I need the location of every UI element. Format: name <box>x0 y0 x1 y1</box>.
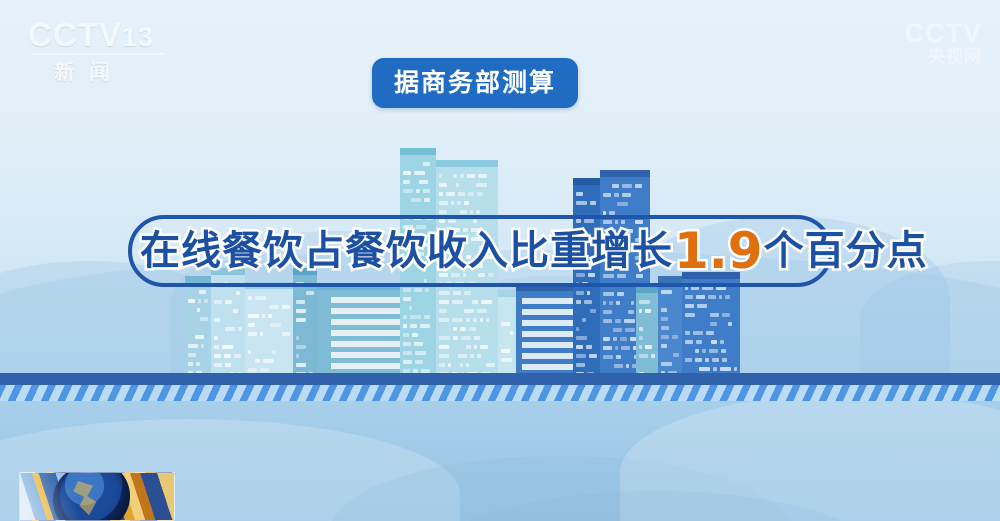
building-window <box>709 349 718 353</box>
building-window <box>415 351 426 355</box>
building-window <box>403 342 411 346</box>
building-window <box>576 192 583 196</box>
building-window <box>466 363 469 367</box>
building-window <box>464 291 471 295</box>
building-window <box>452 318 463 322</box>
building-window <box>695 349 699 353</box>
building-window <box>234 354 241 358</box>
building-window <box>453 327 457 331</box>
building-window <box>699 367 710 371</box>
building-window <box>260 332 263 336</box>
building-cap <box>400 148 436 155</box>
building-window <box>411 198 421 202</box>
building-window <box>470 354 474 358</box>
building-window <box>296 354 299 358</box>
building-window <box>225 363 231 367</box>
building-window <box>576 201 587 205</box>
building-window <box>196 362 200 366</box>
building-window <box>697 304 707 308</box>
building-window <box>468 192 474 196</box>
building-window <box>719 295 722 299</box>
thumbnail-light-streak <box>19 472 101 521</box>
source-banner-pill: 据商务部测算 <box>372 58 578 108</box>
building-window <box>628 310 634 314</box>
building-window <box>474 345 477 349</box>
building-window <box>639 354 648 358</box>
logo-divider <box>32 53 164 55</box>
building-window <box>708 295 716 299</box>
building-window <box>225 300 232 304</box>
building-window <box>722 313 730 317</box>
building-window <box>457 201 461 205</box>
building-window <box>204 299 208 303</box>
building-window <box>439 336 450 340</box>
building-window <box>270 323 281 327</box>
building-window <box>460 363 463 367</box>
building-window <box>464 201 469 205</box>
building <box>185 276 211 381</box>
building-window <box>200 317 208 321</box>
building-window <box>268 314 272 318</box>
building-window <box>296 318 306 322</box>
building-window <box>453 291 461 295</box>
building-window <box>631 301 634 305</box>
building-window <box>461 336 471 340</box>
building-window <box>617 202 628 206</box>
building-window <box>214 345 219 349</box>
building-window <box>423 189 430 193</box>
channel-logo-text: CCTV13 <box>28 18 218 51</box>
building-window <box>296 336 299 340</box>
building-window <box>272 350 276 354</box>
building-window <box>711 340 717 344</box>
building-window <box>255 359 260 363</box>
building-window <box>481 300 492 304</box>
building-window <box>214 336 218 340</box>
building-window <box>661 290 672 294</box>
building-window <box>603 319 612 323</box>
building-window <box>661 326 669 330</box>
building-window <box>248 332 257 336</box>
building-window <box>403 180 410 184</box>
building-window <box>576 345 583 349</box>
building-window <box>622 193 631 197</box>
building <box>682 272 740 381</box>
building-window <box>614 193 619 197</box>
building-window <box>452 300 463 304</box>
building-window <box>693 331 703 335</box>
building-window <box>224 354 231 358</box>
building-window <box>587 291 590 295</box>
news-ticker-globe-thumbnail <box>19 472 175 521</box>
headline-metric-value: 1.9 <box>674 226 763 276</box>
building-window <box>576 336 587 340</box>
building-window <box>582 318 586 322</box>
building-window <box>214 363 222 367</box>
building-window <box>603 337 610 341</box>
building-window <box>705 358 709 362</box>
building-window <box>615 319 621 323</box>
building-window <box>464 309 474 313</box>
building-window <box>403 297 411 301</box>
building-window <box>476 210 480 214</box>
headline-text: 在线餐饮占餐饮收入比重增长1.9个百分点 <box>140 215 928 287</box>
building-window <box>645 309 651 313</box>
channel-number: 13 <box>122 22 154 52</box>
building-window <box>188 299 195 303</box>
building-window <box>282 305 290 309</box>
building-window <box>710 322 717 326</box>
building-window <box>458 354 467 358</box>
building-window <box>620 337 627 341</box>
building-window <box>474 336 480 340</box>
building-window <box>469 327 476 331</box>
building-window <box>439 183 447 187</box>
building-window <box>576 363 585 367</box>
building-window <box>576 354 586 358</box>
building-window <box>617 292 624 296</box>
building-window <box>696 340 702 344</box>
building-window <box>685 304 694 308</box>
building-window <box>477 309 487 313</box>
building-window <box>439 345 449 349</box>
building-window <box>576 300 581 304</box>
building <box>245 282 293 381</box>
building-window <box>622 184 632 188</box>
building-window <box>306 291 314 295</box>
building-window <box>477 354 481 358</box>
building-window <box>639 327 643 331</box>
building-window <box>734 367 737 371</box>
headline-segment: 个百分点 <box>764 231 928 271</box>
building-window <box>439 354 449 358</box>
building-window <box>424 315 430 319</box>
building-window <box>510 331 513 335</box>
building-window <box>706 331 714 335</box>
building-window <box>453 336 458 340</box>
building-window <box>661 362 672 366</box>
building-window <box>420 324 430 328</box>
building-window <box>661 335 669 339</box>
building-window <box>467 174 475 178</box>
building-window <box>248 314 259 318</box>
building-window <box>486 318 489 322</box>
building-window <box>222 345 233 349</box>
building-window <box>188 353 196 357</box>
building-window <box>624 319 635 323</box>
building-window <box>685 340 693 344</box>
watermark-primary: CCTV <box>905 20 983 47</box>
building-window <box>685 331 690 335</box>
building-window <box>423 162 430 166</box>
cctv13-channel-logo: CCTV13 新闻 <box>28 18 218 90</box>
building-window <box>188 344 198 348</box>
building-window <box>625 328 635 332</box>
building-window <box>472 300 478 304</box>
building-window <box>403 360 412 364</box>
building-window <box>616 355 621 359</box>
building-window <box>613 337 617 341</box>
building-window <box>672 335 678 339</box>
building-window <box>661 344 667 348</box>
building-cap <box>636 286 658 293</box>
building-window <box>458 192 465 196</box>
building-window <box>603 346 612 350</box>
building-window <box>710 313 719 317</box>
building-window <box>480 345 488 349</box>
watermark-secondary: 央视网 <box>905 48 983 65</box>
building-window <box>439 192 443 196</box>
building-window <box>616 301 620 305</box>
building-window <box>403 351 412 355</box>
building-window <box>439 291 450 295</box>
building-window <box>712 358 719 362</box>
building-window <box>470 210 473 214</box>
building <box>658 276 682 381</box>
building-window <box>501 322 510 326</box>
building-window <box>639 309 642 313</box>
building-window <box>419 180 428 184</box>
headline-segment: 在线餐饮占餐饮收入比重增长 <box>140 231 673 271</box>
building-window <box>188 362 193 366</box>
building-window <box>651 354 655 358</box>
building-window <box>403 171 411 175</box>
building-window <box>613 328 622 332</box>
building-window <box>236 291 240 295</box>
building-window <box>696 295 705 299</box>
building-window <box>661 317 668 321</box>
building-window <box>409 306 412 310</box>
building-window <box>439 309 447 313</box>
building-window <box>195 335 204 339</box>
building-window <box>603 292 614 296</box>
channel-sub-label: 新闻 <box>54 56 218 86</box>
building-window <box>201 344 204 348</box>
building-window <box>501 358 512 362</box>
building-window <box>460 210 467 214</box>
building-window <box>282 332 290 336</box>
building-window <box>615 346 618 350</box>
broadcast-screen: CCTV13 新闻 CCTV 央视网 据商务部测算 在线餐饮占餐饮收入比重增长1… <box>0 0 1000 521</box>
building <box>498 290 516 381</box>
building-window <box>197 308 200 312</box>
building-window <box>263 359 274 363</box>
building-window <box>414 288 422 292</box>
building-window <box>248 368 257 372</box>
building-window <box>414 342 423 346</box>
building-window <box>199 290 206 294</box>
building-window <box>589 354 597 358</box>
building-cap <box>498 290 516 297</box>
building-window <box>728 322 732 326</box>
building-window <box>576 291 584 295</box>
building-window <box>614 364 623 368</box>
building-window <box>685 358 692 362</box>
building-window <box>415 360 423 364</box>
building-window <box>403 333 409 337</box>
building-window <box>603 355 613 359</box>
building-window <box>685 295 693 299</box>
building-window <box>603 193 611 197</box>
building-window <box>466 345 471 349</box>
building-window <box>639 300 650 304</box>
building-window <box>466 318 470 322</box>
building-cap <box>600 170 650 177</box>
building-window <box>424 198 430 202</box>
building-window <box>603 310 612 314</box>
building-window <box>425 288 429 292</box>
building-window <box>621 346 630 350</box>
building-window <box>590 309 596 313</box>
building-window <box>612 184 619 188</box>
building-window <box>260 368 269 372</box>
building <box>636 286 658 381</box>
building-cap <box>573 178 600 185</box>
building-window <box>702 349 706 353</box>
building-window <box>248 296 252 300</box>
building-window <box>439 201 448 205</box>
building-window <box>609 301 613 305</box>
building-window <box>639 336 643 340</box>
building-window <box>248 323 255 327</box>
building-window <box>410 324 417 328</box>
building-window <box>248 350 251 354</box>
building-window <box>403 189 413 193</box>
channel-logo-name: CCTV <box>28 16 122 53</box>
building-window <box>473 318 477 322</box>
building-window <box>453 174 457 178</box>
building-window <box>410 315 421 319</box>
building-window <box>198 299 201 303</box>
building-window <box>486 363 495 367</box>
building-window <box>476 183 487 187</box>
building-window <box>590 201 596 205</box>
building-window <box>439 174 442 178</box>
building-window <box>269 305 279 309</box>
building-window <box>296 363 306 367</box>
building-window <box>296 300 305 304</box>
building-window <box>225 327 235 331</box>
building-window <box>673 353 679 357</box>
building-window <box>722 358 727 362</box>
building-window <box>439 210 447 214</box>
building-window <box>720 340 724 344</box>
building-window <box>403 315 407 319</box>
headline-banner: 在线餐饮占餐饮收入比重增长1.9个百分点 <box>128 215 833 287</box>
building-window <box>451 201 454 205</box>
building-window <box>262 314 265 318</box>
building-window <box>446 192 455 196</box>
building-window <box>725 295 730 299</box>
cctv-com-watermark: CCTV 央视网 <box>905 20 983 65</box>
building-window <box>416 189 420 193</box>
ground-striped-band <box>0 382 1000 401</box>
building-window <box>439 318 449 322</box>
building-window <box>214 300 222 304</box>
building-window <box>645 345 652 349</box>
building-window <box>713 367 717 371</box>
building-window <box>296 309 306 313</box>
building-window <box>685 313 695 317</box>
building-window <box>576 327 579 331</box>
building-window <box>448 363 451 367</box>
building-window <box>403 288 411 292</box>
building-window <box>214 318 220 322</box>
building-window <box>456 183 459 187</box>
building-window <box>238 327 242 331</box>
building-window <box>639 345 642 349</box>
building-window <box>478 174 487 178</box>
building-window <box>477 192 483 196</box>
building-window <box>412 333 418 337</box>
building-window <box>255 296 266 300</box>
building-window <box>439 300 449 304</box>
building-window <box>661 308 667 312</box>
building-window <box>695 358 702 362</box>
building-window <box>460 174 464 178</box>
building-window <box>635 184 642 188</box>
building-window <box>233 309 238 313</box>
building-window <box>414 171 425 175</box>
source-banner-label: 据商务部测算 <box>394 71 556 96</box>
building-window <box>403 324 407 328</box>
building-window <box>214 354 221 358</box>
building-cap <box>436 160 498 167</box>
building-window <box>586 345 592 349</box>
building-window <box>480 318 483 322</box>
building-window <box>296 345 306 349</box>
building-window <box>603 301 606 305</box>
building-window <box>460 327 466 331</box>
building-window <box>721 349 726 353</box>
building-window <box>720 367 731 371</box>
ground-solid-band <box>0 373 1000 382</box>
building-window <box>439 363 445 367</box>
building-window <box>501 349 510 353</box>
building-window <box>584 300 592 304</box>
building-window <box>626 364 629 368</box>
